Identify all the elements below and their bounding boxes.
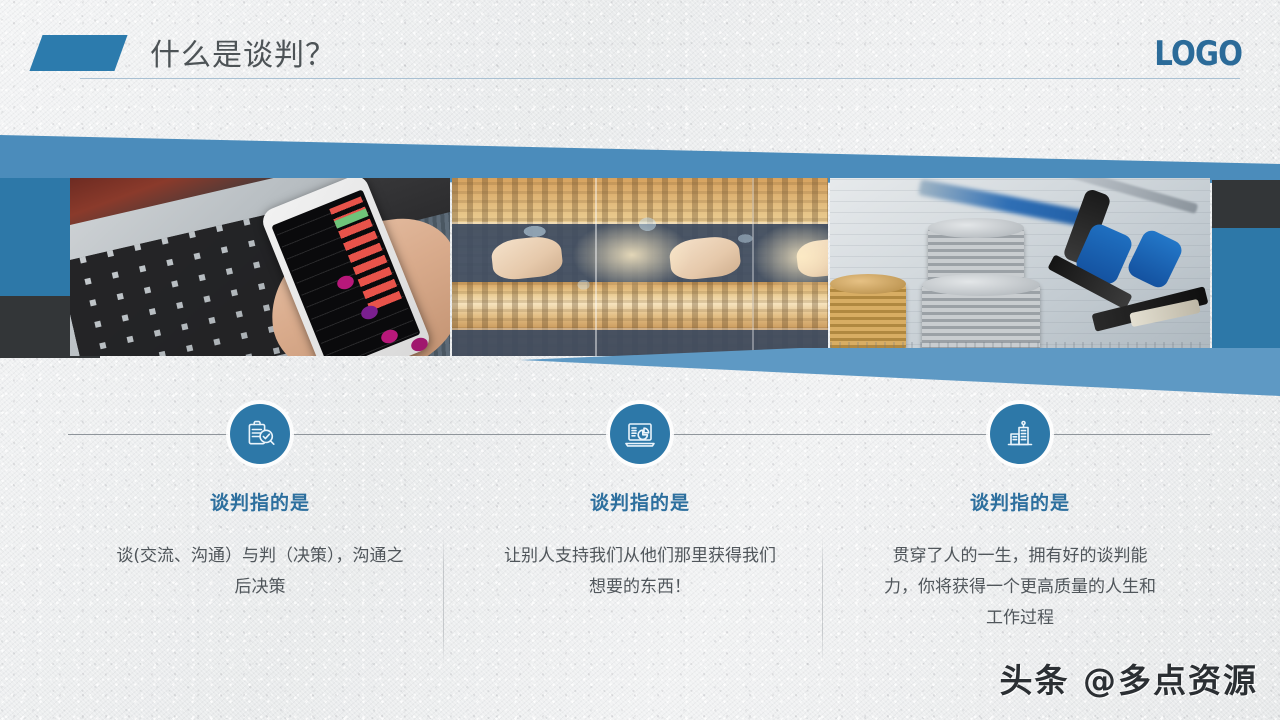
- photo-phone-trading-on-laptop: [70, 178, 450, 356]
- info-column-2: 谈判指的是 让别人支持我们从他们那里获得我们想要的东西！: [480, 488, 800, 603]
- photo-handshake-collage: [452, 178, 828, 356]
- column-heading: 谈判指的是: [100, 488, 420, 515]
- info-column-3: 谈判指的是 贯穿了人的一生，拥有好的谈判能力，你将获得一个更高质量的人生和工作过…: [860, 488, 1180, 634]
- column-divider-1: [443, 535, 444, 665]
- decorative-block-right-dark: [1212, 180, 1280, 228]
- column-heading: 谈判指的是: [860, 488, 1180, 515]
- page-title: 什么是谈判？: [150, 30, 336, 74]
- laptop-piechart-icon[interactable]: [610, 404, 670, 464]
- title-accent-parallelogram: [29, 35, 127, 71]
- logo: LOGO: [1154, 34, 1242, 74]
- buildings-icon[interactable]: [990, 404, 1050, 464]
- info-column-1: 谈判指的是 谈(交流、沟通）与判（决策），沟通之后决策: [100, 488, 420, 603]
- photo-coins-and-pens: [830, 178, 1210, 356]
- column-heading: 谈判指的是: [480, 488, 800, 515]
- icon-connector-line-3: [672, 434, 988, 435]
- clipboard-search-check-icon[interactable]: [230, 404, 290, 464]
- slide-header: 什么是谈判？ LOGO: [0, 0, 1280, 90]
- column-body-text: 谈(交流、沟通）与判（决策），沟通之后决策: [100, 541, 420, 603]
- laptop-piechart-icon-glyph: [622, 417, 658, 451]
- decorative-block-left-blue: [0, 178, 72, 296]
- icon-connector-line-1: [68, 434, 228, 435]
- icon-connector-line-2: [292, 434, 608, 435]
- clipboard-search-check-icon-glyph: [243, 417, 277, 451]
- column-body-text: 让别人支持我们从他们那里获得我们想要的东西！: [480, 541, 800, 603]
- buildings-icon-glyph: [1003, 417, 1037, 451]
- banner-strip: [0, 120, 1280, 400]
- column-divider-2: [822, 535, 823, 665]
- decorative-block-right-blue: [1212, 228, 1280, 356]
- icon-connector-line-4: [1052, 434, 1210, 435]
- column-body-text: 贯穿了人的一生，拥有好的谈判能力，你将获得一个更高质量的人生和工作过程: [860, 541, 1180, 634]
- slide-canvas: 什么是谈判？ LOGO: [0, 0, 1280, 720]
- watermark: 头条 @多点资源: [1000, 654, 1259, 702]
- header-divider-line: [80, 78, 1240, 79]
